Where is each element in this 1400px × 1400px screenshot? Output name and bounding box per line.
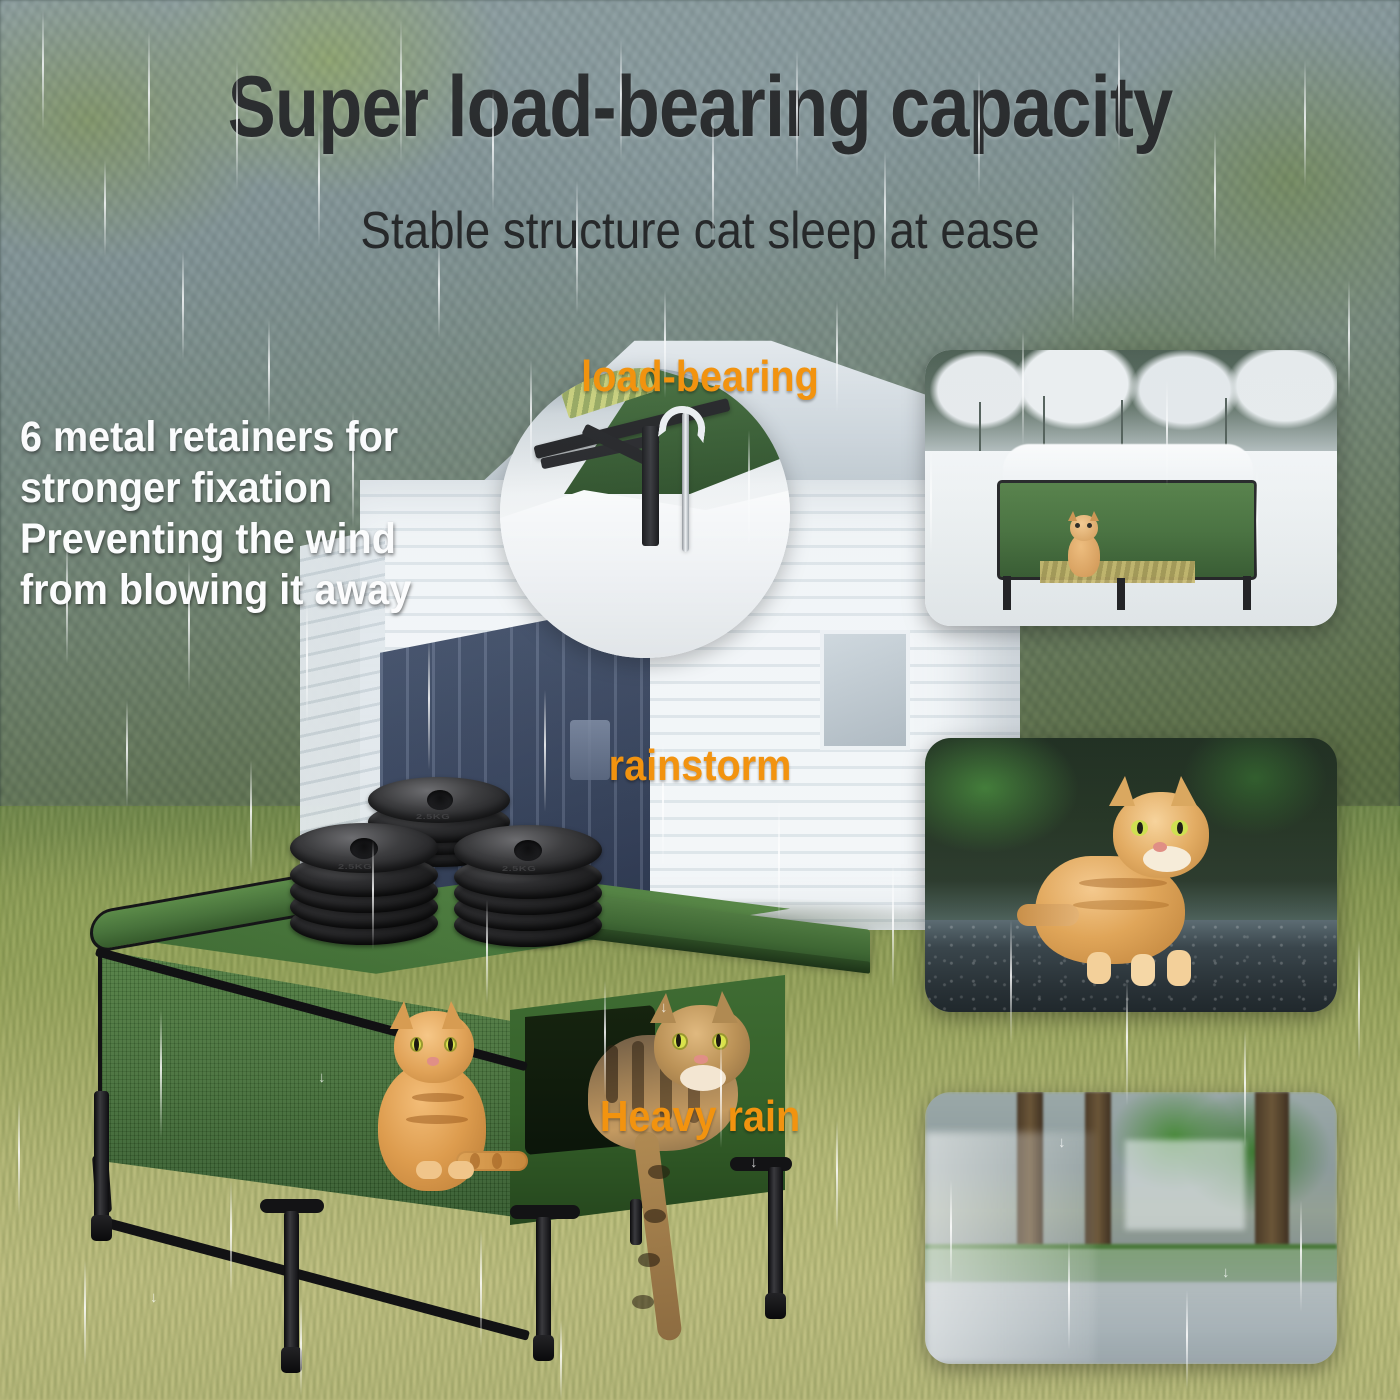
rain-haze-overlay: [0, 0, 1400, 1400]
card-label-load-bearing: load-bearing: [70, 355, 1330, 399]
card-label-heavy-rain: Heavy rain: [70, 1095, 1330, 1139]
card-label-rainstorm: rainstorm: [70, 744, 1330, 788]
product-infographic: Super load-bearing capacity Stable struc…: [0, 0, 1400, 1400]
